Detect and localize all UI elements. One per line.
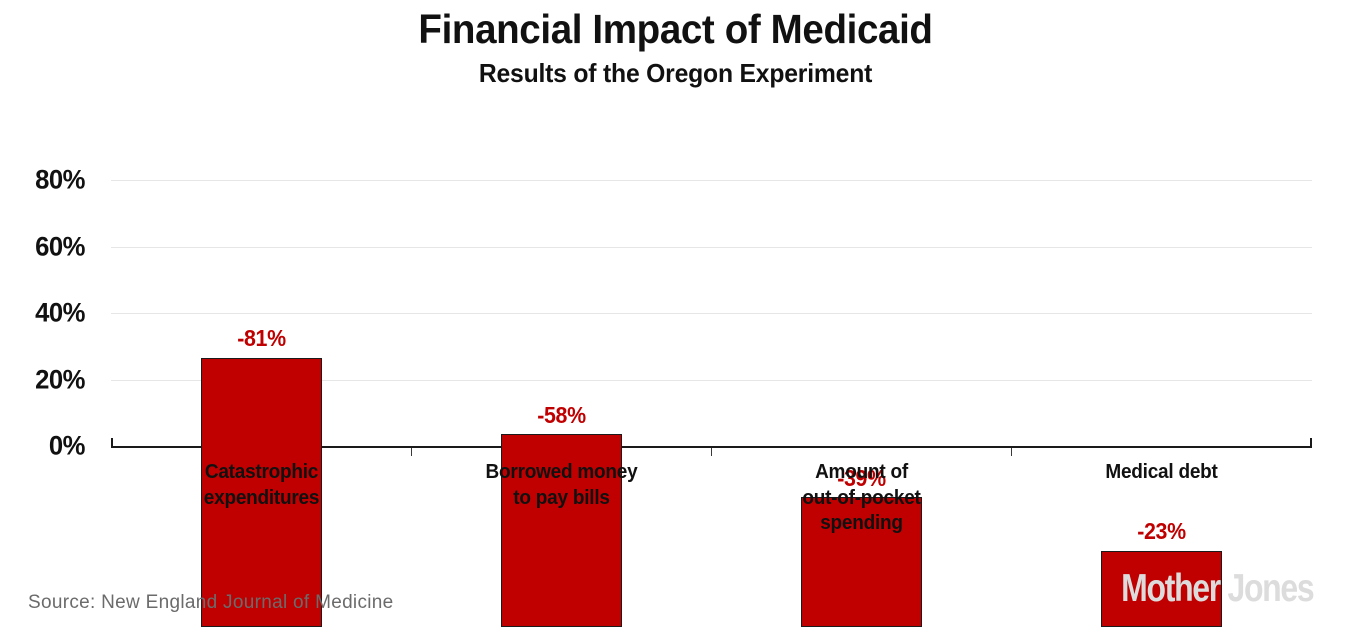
x-axis-end-tick	[1310, 438, 1312, 447]
x-axis-tick-1	[411, 448, 412, 456]
category-label-medical-debt: Medical debt	[1047, 460, 1276, 486]
bar-value-borrowed-money: -58%	[505, 404, 618, 427]
bar-group-catastrophic-expenditures: -81%	[201, 181, 322, 627]
category-line: expenditures	[147, 486, 376, 512]
category-line: spending	[747, 511, 976, 537]
category-line: Borrowed money	[447, 460, 676, 486]
ytick-label-40: 40%	[9, 300, 85, 327]
ytick-label-0: 0%	[9, 433, 85, 460]
x-axis-tick-3	[1011, 448, 1012, 456]
category-line: Catastrophic	[147, 460, 376, 486]
category-line: to pay bills	[447, 486, 676, 512]
ytick-label-80: 80%	[9, 167, 85, 194]
chart-page: Financial Impact of Medicaid Results of …	[0, 0, 1351, 627]
ytick-label-60: 60%	[9, 233, 85, 260]
category-label-catastrophic-expenditures: Catastrophic expenditures	[147, 460, 376, 511]
x-axis-tick-2	[711, 448, 712, 456]
ytick-label-20: 20%	[9, 366, 85, 393]
bar-group-borrowed-money: -58%	[501, 181, 622, 627]
bar-value-catastrophic-expenditures: -81%	[205, 327, 318, 350]
bar-group-medical-debt: -23%	[1101, 181, 1222, 627]
plot-area: 80% 60% 40% 20% 0% -81% -58% -39%	[0, 0, 1351, 627]
source-note: Source: New England Journal of Medicine	[28, 592, 394, 614]
mother-jones-logo: Mother Jones	[1121, 569, 1313, 608]
category-line: Medical debt	[1047, 460, 1276, 486]
category-line: Amount of	[747, 460, 976, 486]
category-line: out-of-pocket	[747, 486, 976, 512]
x-axis-start-tick	[111, 438, 113, 447]
bar-value-medical-debt: -23%	[1105, 520, 1218, 543]
category-label-borrowed-money: Borrowed money to pay bills	[447, 460, 676, 511]
bar-group-out-of-pocket-spending: -39%	[801, 181, 922, 627]
category-label-out-of-pocket-spending: Amount of out-of-pocket spending	[747, 460, 976, 537]
